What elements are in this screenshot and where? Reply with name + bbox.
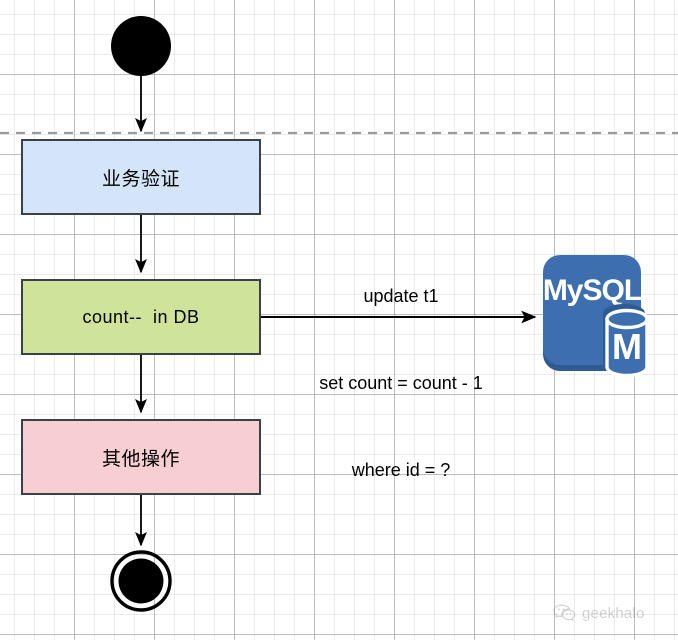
watermark-text: geekhalo xyxy=(582,605,645,622)
end-node-core xyxy=(119,559,164,604)
diagram-canvas: 业务验证 count-- in DB 其他操作 update t1 set co… xyxy=(0,0,678,640)
activity-node-count[interactable]: count-- in DB xyxy=(21,279,261,355)
start-node xyxy=(111,16,171,76)
mysql-logo: MySQL M xyxy=(541,253,659,377)
activity-node-count-label: count-- in DB xyxy=(82,307,199,328)
activity-node-validate[interactable]: 业务验证 xyxy=(21,139,261,215)
wechat-icon xyxy=(553,604,575,623)
watermark: geekhalo xyxy=(553,604,645,623)
activity-node-validate-label: 业务验证 xyxy=(102,164,180,191)
mysql-wordmark: MySQL xyxy=(543,274,642,307)
sql-statement-label: update t1 set count = count - 1 where id… xyxy=(281,224,521,543)
activity-node-other-label: 其他操作 xyxy=(102,444,180,471)
sql-line-2: set count = count - 1 xyxy=(281,369,521,398)
sql-line-1: update t1 xyxy=(281,282,521,311)
sql-line-3: where id = ? xyxy=(281,456,521,485)
activity-node-other[interactable]: 其他操作 xyxy=(21,419,261,495)
mysql-db-letter: M xyxy=(612,326,642,367)
